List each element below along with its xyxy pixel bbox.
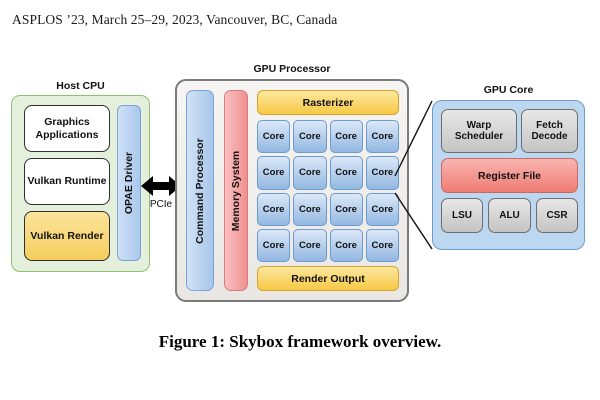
command-processor-label: Command Processor [194, 138, 206, 244]
core-cell: Core [330, 229, 363, 262]
alu-block: ALU [488, 198, 531, 233]
core-cell: Core [330, 120, 363, 153]
gpu-core-label: GPU Core [432, 84, 585, 96]
core-cell: Core [293, 193, 326, 226]
core-cell: Core [366, 193, 399, 226]
core-cell: Core [257, 229, 290, 262]
warp-scheduler-block: Warp Scheduler [441, 109, 517, 153]
core-cell: Core [257, 120, 290, 153]
host-cpu-panel: Graphics Applications Vulkan Runtime Vul… [11, 95, 150, 272]
gpu-core-panel: Warp Scheduler Fetch Decode Register Fil… [432, 100, 585, 250]
csr-block: CSR [536, 198, 578, 233]
rasterizer-block: Rasterizer [257, 90, 399, 115]
core-grid: CoreCoreCoreCoreCoreCoreCoreCoreCoreCore… [257, 120, 399, 262]
command-processor-block: Command Processor [186, 90, 214, 291]
gpu-processor-label: GPU Processor [175, 63, 409, 75]
figure-caption: Figure 1: Skybox framework overview. [0, 332, 600, 352]
lsu-block: LSU [441, 198, 483, 233]
venue-header: ASPLOS ’23, March 25–29, 2023, Vancouver… [12, 12, 337, 28]
fetch-decode-block: Fetch Decode [521, 109, 578, 153]
register-file-block: Register File [441, 158, 578, 193]
figure-canvas: Host CPU Graphics Applications Vulkan Ru… [0, 55, 600, 315]
opae-driver-label: OPAE Driver [123, 152, 135, 214]
memory-system-label: Memory System [230, 150, 242, 231]
opae-driver-block: OPAE Driver [117, 105, 141, 261]
memory-system-block: Memory System [224, 90, 248, 291]
core-cell: Core [257, 193, 290, 226]
core-cell: Core [366, 156, 399, 189]
host-cpu-label: Host CPU [11, 80, 150, 92]
core-cell: Core [293, 156, 326, 189]
core-cell: Core [366, 120, 399, 153]
vulkan-runtime-block: Vulkan Runtime [24, 158, 110, 205]
core-cell: Core [293, 229, 326, 262]
core-cell: Core [366, 229, 399, 262]
core-cell: Core [257, 156, 290, 189]
core-cell: Core [330, 193, 363, 226]
core-cell: Core [330, 156, 363, 189]
graphics-applications-block: Graphics Applications [24, 105, 110, 152]
vulkan-render-block: Vulkan Render [24, 211, 110, 261]
render-output-block: Render Output [257, 266, 399, 291]
core-cell: Core [293, 120, 326, 153]
gpu-processor-panel: Command Processor Memory System Rasteriz… [175, 79, 409, 302]
